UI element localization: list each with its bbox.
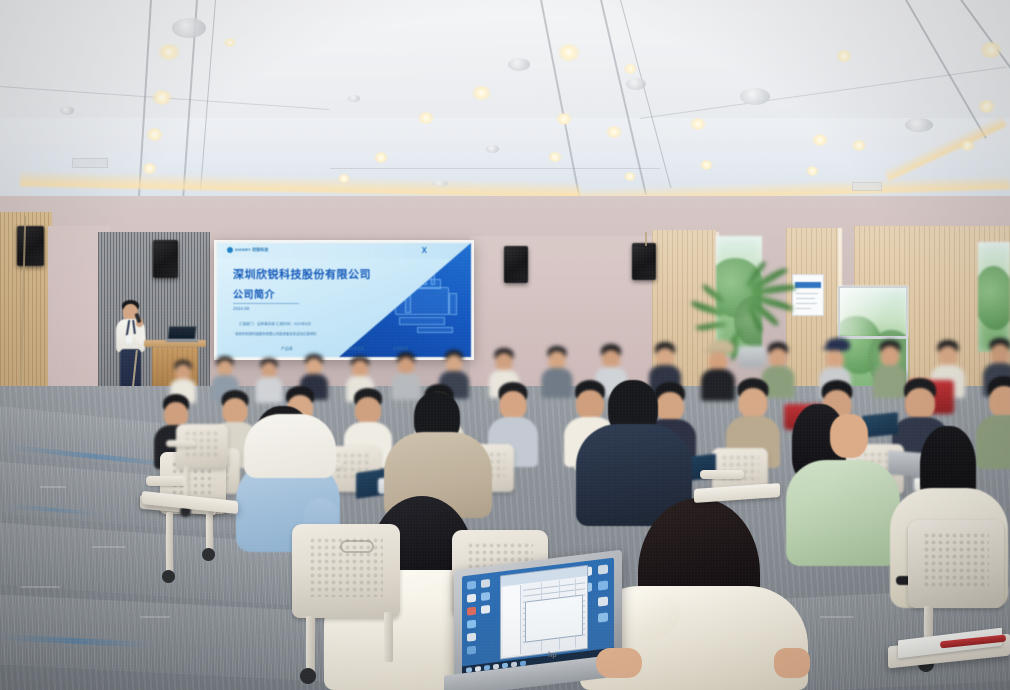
chair-caster-left-2	[202, 548, 215, 561]
slide-divider	[233, 303, 299, 304]
desktop-icon	[467, 581, 476, 590]
chair-arm-left-row	[166, 440, 196, 447]
head	[830, 414, 868, 458]
chair-caster-left	[162, 570, 175, 583]
desktop-icon	[598, 580, 608, 590]
spreadsheet-window[interactable]	[500, 565, 588, 660]
wall-speaker-stage-right	[504, 246, 528, 283]
company-logo: SHINRY 欣锐科技	[227, 247, 270, 253]
chair-right-of-green	[908, 520, 1004, 608]
desktop-icon	[467, 646, 476, 655]
speaker-cable-right	[645, 232, 647, 246]
nested-dialog[interactable]	[525, 594, 583, 642]
chair-handle-center	[340, 540, 374, 553]
slide-fine-print: 汇报部门：证券事务部 汇报时间：2024年8月	[239, 322, 311, 327]
hand	[774, 648, 810, 678]
desktop-icon	[481, 579, 490, 588]
name-badge	[126, 335, 132, 343]
desktop-icon	[481, 605, 490, 614]
chair-front-center	[292, 524, 400, 618]
chair-leg-center	[306, 616, 315, 674]
logo-text: SHINRY 欣锐科技	[235, 247, 269, 253]
chair-leg-center-2	[384, 612, 393, 662]
chair-caster-center	[300, 668, 316, 684]
wall-speaker-far-right	[632, 243, 656, 280]
wall-speaker-far-left	[17, 226, 44, 266]
desktop-icon	[467, 607, 476, 616]
chair-arm-front-left	[146, 476, 188, 486]
wall-speaker-stage-left	[153, 240, 178, 278]
desktop-icon	[481, 592, 490, 601]
desktop-icon	[598, 612, 608, 622]
desktop-icon	[467, 633, 476, 642]
conference-room-photo: SHINRY 欣锐科技 X 深圳欣锐科技股份有限公司 公司简介 2024.08 …	[0, 0, 1010, 690]
chair-leg-left	[166, 512, 173, 574]
slide-title: 深圳欣锐科技股份有限公司	[233, 266, 371, 282]
sign-header-bar	[795, 282, 821, 288]
slide-corner-mark: X	[422, 246, 427, 255]
attendee-white-tshirt	[236, 388, 342, 480]
hp-logo: hp	[548, 652, 557, 659]
hand-on-keyboard	[596, 648, 642, 678]
desktop-icon	[467, 620, 476, 629]
slide-subtitle: 公司简介	[233, 286, 275, 301]
logo-mark-dot	[227, 247, 233, 253]
slide-date: 2024.08	[233, 306, 249, 311]
chair-arm-right	[700, 470, 744, 479]
desktop-icon	[467, 594, 476, 603]
desktop-icon	[598, 596, 608, 606]
desktop-icon	[598, 564, 608, 574]
ceiling	[0, 0, 1010, 215]
